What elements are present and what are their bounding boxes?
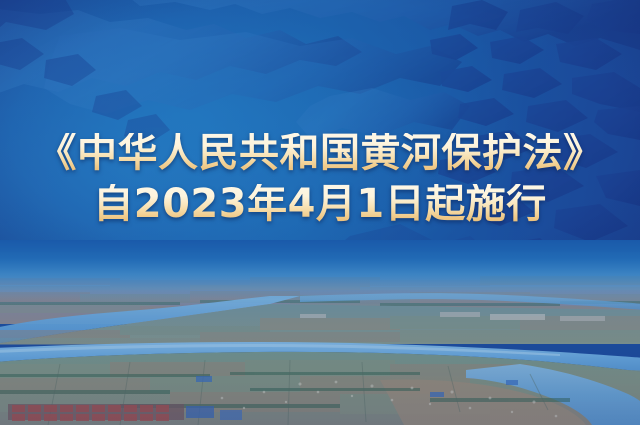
headline-line-law-title: 《中华人民共和国黄河保护法》 <box>0 133 640 175</box>
poster: 《中华人民共和国黄河保护法》 自2023年4月1日起施行 <box>0 0 640 425</box>
page-title: 《中华人民共和国黄河保护法》 自2023年4月1日起施行 <box>0 133 640 225</box>
aerial-yellow-river-photo <box>0 252 640 425</box>
headline-line-effective-date: 自2023年4月1日起施行 <box>0 184 640 226</box>
